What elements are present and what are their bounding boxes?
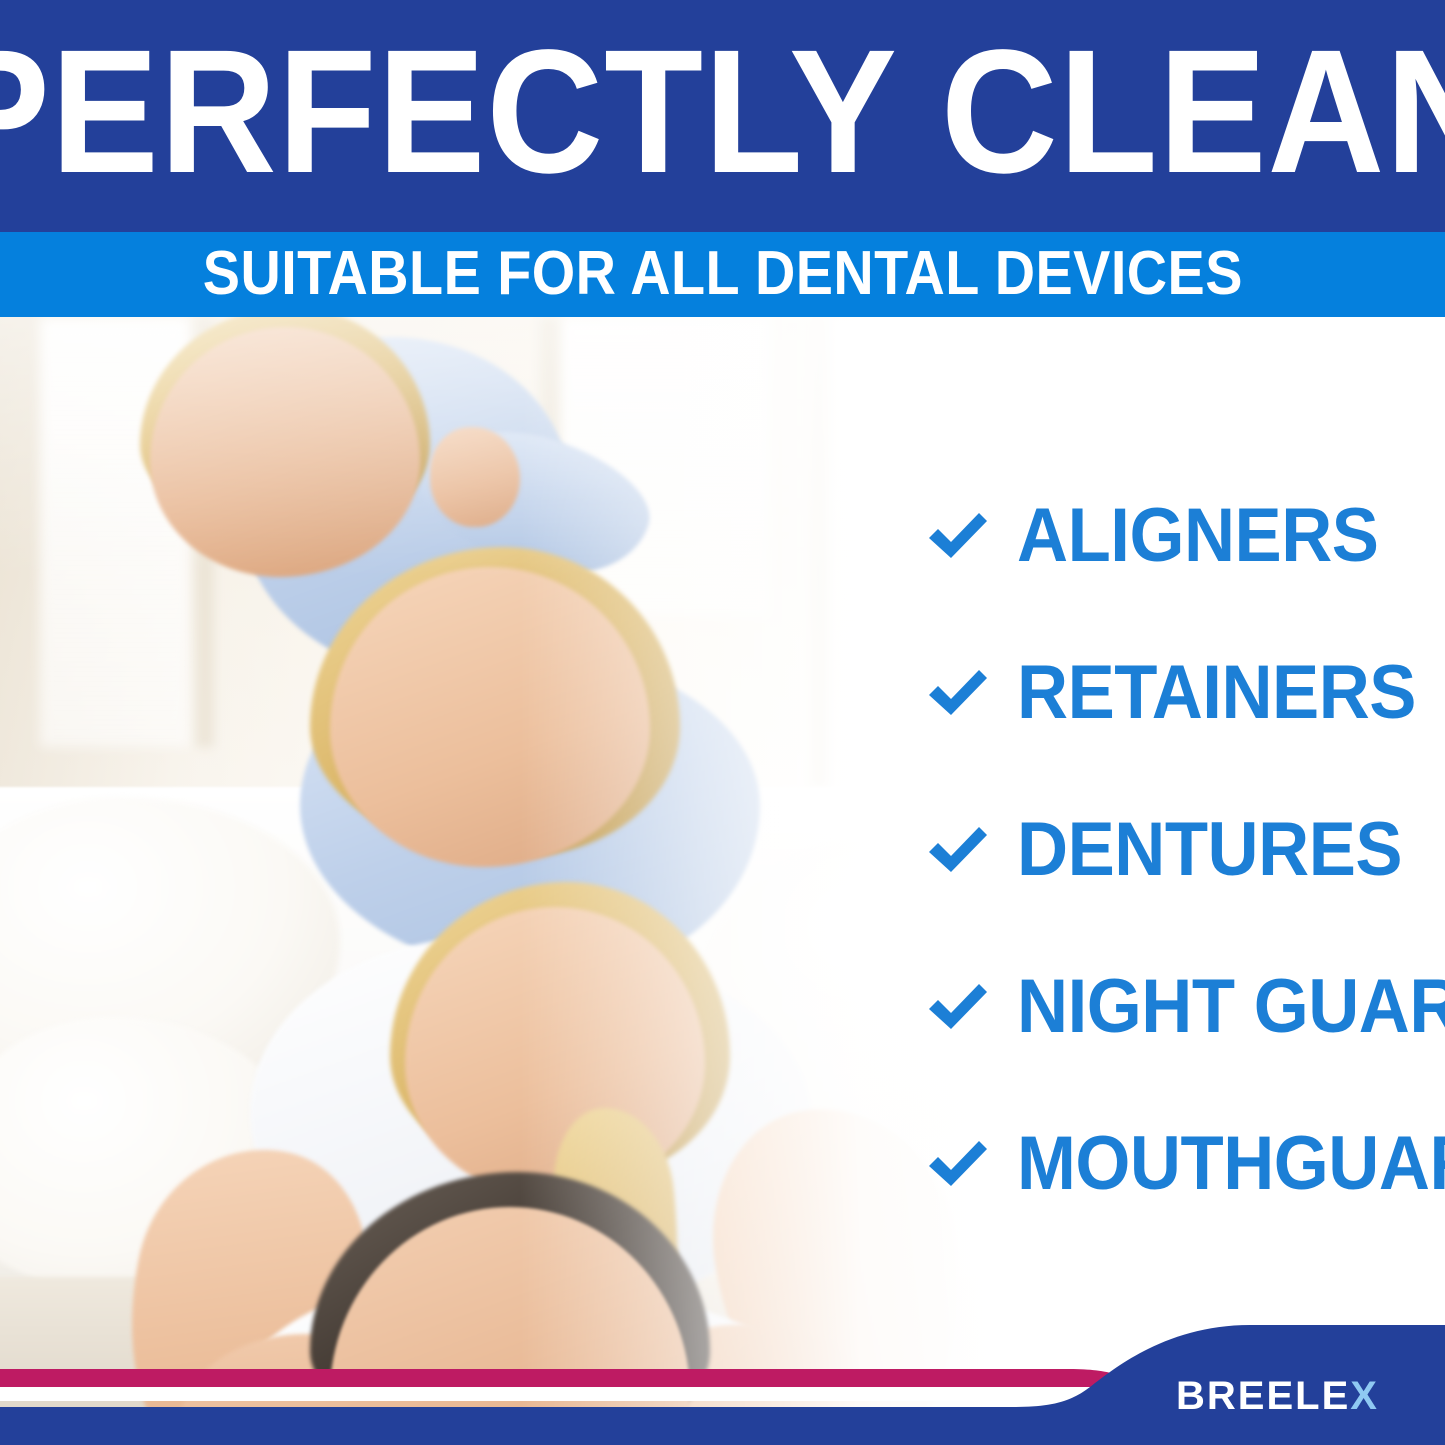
family-photo [0,317,1000,1417]
poster-canvas: PERFECTLY CLEAN SUITABLE FOR ALL DENTAL … [0,0,1445,1445]
check-icon [925,822,991,878]
check-icon [925,1136,991,1192]
subtitle-band: SUITABLE FOR ALL DENTAL DEVICES [0,232,1445,317]
feature-list: ALIGNERS RETAINERS DENTURES NIGHT GUARDS [925,457,1425,1242]
feature-label: DENTURES [1017,812,1402,888]
brand-logo-x: X [1350,1374,1379,1418]
feature-label: NIGHT GUARDS [1017,969,1445,1045]
headline-band: PERFECTLY CLEAN [0,0,1445,232]
check-icon [925,665,991,721]
feature-label: MOUTHGUARDS [1017,1126,1445,1202]
window-frame [812,317,828,787]
feature-label: RETAINERS [1017,655,1416,731]
list-item[interactable]: NIGHT GUARDS [925,928,1425,1085]
feature-label: ALIGNERS [1017,498,1378,574]
main-stage: ALIGNERS RETAINERS DENTURES NIGHT GUARDS [0,317,1445,1445]
brand-logo-prefix: BREELE [1176,1374,1350,1418]
page-title: PERFECTLY CLEAN [0,37,1445,188]
list-item[interactable]: MOUTHGUARDS [925,1085,1425,1242]
list-item[interactable]: RETAINERS [925,614,1425,771]
child-hand [430,427,520,527]
check-icon [925,508,991,564]
check-icon [925,979,991,1035]
brand-logo[interactable]: BREELEX [1176,1376,1379,1416]
list-item[interactable]: DENTURES [925,771,1425,928]
page-subtitle: SUITABLE FOR ALL DENTAL DEVICES [202,243,1242,305]
list-item[interactable]: ALIGNERS [925,457,1425,614]
